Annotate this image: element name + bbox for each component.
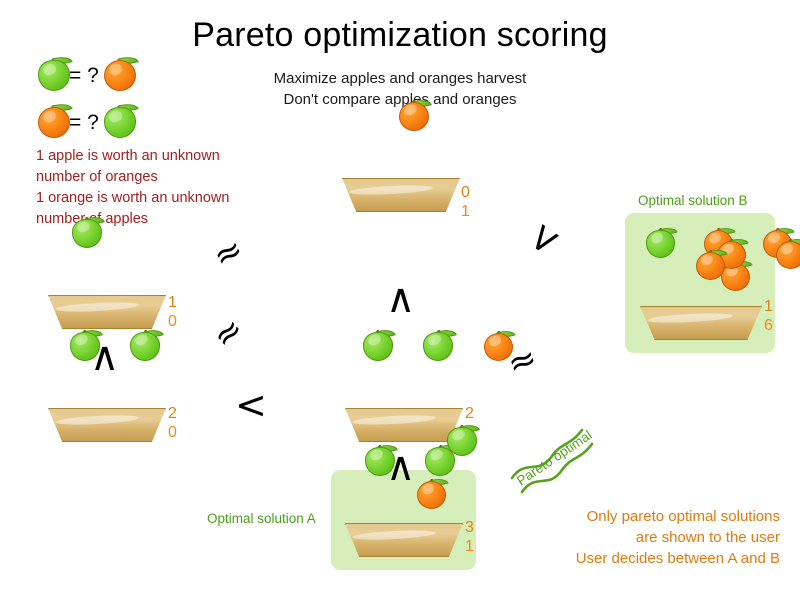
bowl-highlight <box>55 414 139 427</box>
score-3-1: 3 1 <box>465 518 474 556</box>
equation-operator: = ? <box>68 111 102 135</box>
score-apples: 2 <box>168 404 177 423</box>
bowl-contents <box>48 211 166 301</box>
apple-icon <box>38 60 70 91</box>
bowl-shape <box>345 408 463 442</box>
orange-body-icon <box>417 481 446 509</box>
bowl-1-apple-6-oranges-solution-b[interactable] <box>640 288 762 340</box>
orange-body-icon <box>399 102 429 131</box>
apple-body-icon <box>363 332 393 361</box>
bowl-highlight <box>55 301 139 314</box>
score-1-0: 1 0 <box>168 293 177 331</box>
score-apples: 1 <box>168 293 177 312</box>
apple-body-icon <box>646 230 675 258</box>
apple-body-icon <box>38 60 70 91</box>
cmp-greater-up-left: ∧ <box>90 340 119 374</box>
score-1-6: 1 6 <box>764 297 773 335</box>
apple-body-icon <box>447 427 477 456</box>
score-apples: 2 <box>465 404 474 423</box>
cmp-less-than: < <box>235 388 267 422</box>
bowl-2-apples-0-orange[interactable] <box>48 390 166 442</box>
bowl-shape <box>345 523 463 557</box>
apple-icon <box>646 230 675 258</box>
orange-icon <box>399 102 429 131</box>
bottom-note-line-1: Only pareto optimal solutions <box>480 506 780 527</box>
score-oranges: 1 <box>461 202 470 221</box>
apple-body-icon <box>130 332 160 361</box>
bowl-0-apples-1-orange[interactable] <box>342 160 460 212</box>
bowl-contents <box>345 324 463 414</box>
orange-icon <box>104 60 136 91</box>
orange-icon <box>696 252 725 280</box>
bowl-highlight <box>349 184 433 197</box>
orange-icon <box>776 241 800 269</box>
score-oranges: 1 <box>465 537 474 556</box>
label-optimal-solution-a: Optimal solution A <box>207 511 316 526</box>
bottom-note: Only pareto optimal solutions are shown … <box>480 506 780 569</box>
bowl-contents <box>342 94 460 184</box>
bottom-note-line-2: are shown to the user <box>480 527 780 548</box>
bottom-note-line-3: User decides between A and B <box>480 548 780 569</box>
score-apples: 3 <box>465 518 474 537</box>
bowl-highlight <box>647 312 734 325</box>
orange-body-icon <box>38 107 70 138</box>
score-oranges: 6 <box>764 316 773 335</box>
legend-equation-apple-equals-orange: = ? <box>38 60 136 91</box>
bowl-shape <box>342 178 460 212</box>
bowl-contents <box>640 222 762 312</box>
rules-line-3: 1 orange is worth an unknown <box>36 188 296 209</box>
score-2-0: 2 0 <box>168 404 177 442</box>
page-title: Pareto optimization scoring <box>0 16 800 55</box>
cmp-approx-top-left: ≈ <box>208 231 249 274</box>
equation-operator: = ? <box>68 64 102 88</box>
apple-icon <box>130 332 160 361</box>
score-apples: 0 <box>461 183 470 202</box>
apple-icon <box>447 427 477 456</box>
score-apples: 1 <box>764 297 773 316</box>
apple-body-icon <box>72 219 102 248</box>
orange-body-icon <box>696 252 725 280</box>
score-0-1: 0 1 <box>461 183 470 221</box>
cmp-approx-mid-left: ≈ <box>206 311 250 355</box>
bowl-shape <box>640 306 762 340</box>
legend-equation-orange-equals-apple: = ? <box>38 107 136 138</box>
score-oranges: 0 <box>168 423 177 442</box>
label-optimal-solution-b: Optimal solution B <box>638 193 748 208</box>
cmp-greater-up-solA: ∧ <box>386 450 415 484</box>
bowl-shape <box>48 408 166 442</box>
bowl-highlight <box>352 414 436 427</box>
apple-icon <box>423 332 453 361</box>
bowl-highlight <box>352 529 436 542</box>
rules-line-2: number of oranges <box>36 167 296 188</box>
orange-body-icon <box>776 241 800 269</box>
apple-icon <box>104 107 136 138</box>
apple-icon <box>72 219 102 248</box>
bowl-1-apple-0-orange[interactable] <box>48 277 166 329</box>
orange-icon <box>417 481 446 509</box>
apple-icon <box>363 332 393 361</box>
bowl-2-apples-1-orange[interactable] <box>345 390 463 442</box>
orange-body-icon <box>104 60 136 91</box>
apple-body-icon <box>104 107 136 138</box>
rules-line-1: 1 apple is worth an unknown <box>36 146 296 167</box>
score-oranges: 0 <box>168 312 177 331</box>
bowl-3-apples-1-orange-solution-a[interactable] <box>345 505 463 557</box>
cmp-greater-up-center: ∧ <box>386 282 415 316</box>
apple-body-icon <box>423 332 453 361</box>
cmp-approx-right: ≈ <box>503 340 541 382</box>
cmp-less-diagonal: < <box>520 216 566 262</box>
subtitle-line-1: Maximize apples and oranges harvest <box>200 68 600 89</box>
orange-icon <box>38 107 70 138</box>
